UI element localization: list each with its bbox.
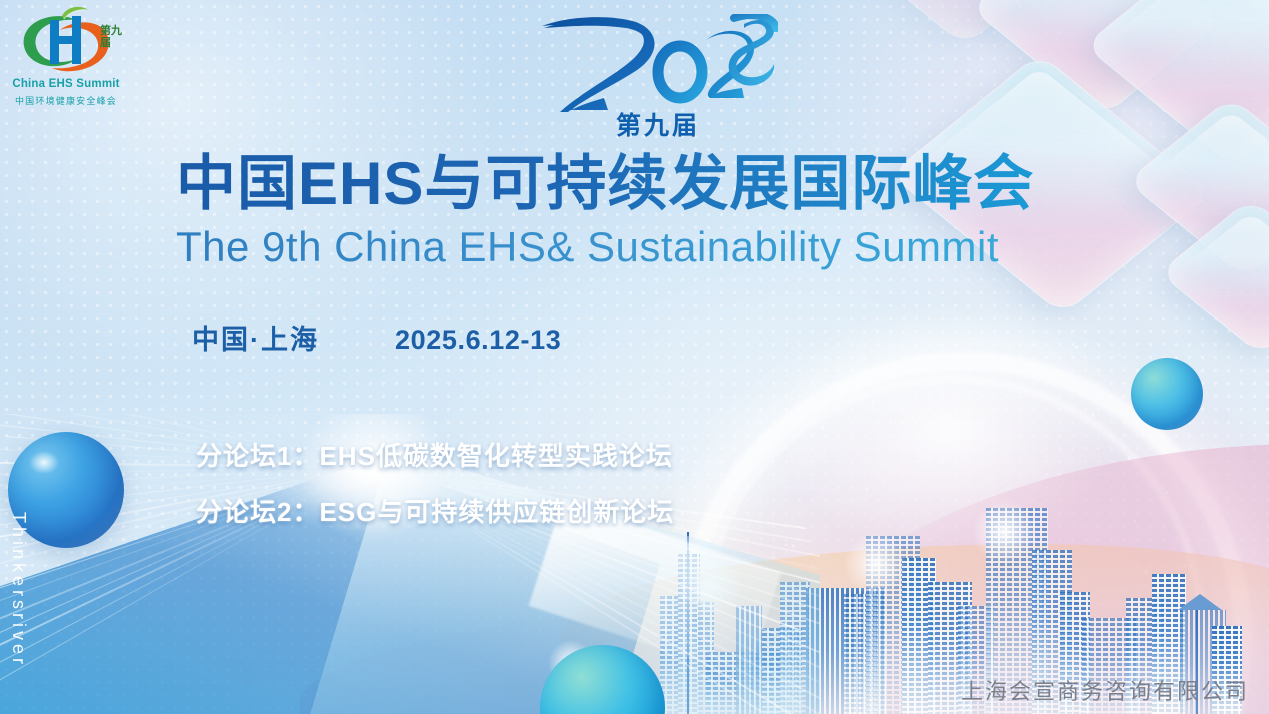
city-dome-roof (1178, 594, 1222, 610)
sparkle (1203, 388, 1204, 389)
china-ehs-summit-logo[interactable]: 第九届 China EHS Summit 中国环境健康安全峰会 (10, 6, 128, 114)
event-date: 2025.6.12-13 (395, 325, 561, 356)
logo-name-en: China EHS Summit (10, 78, 122, 90)
forum-item-1: 分论坛1：EHS低碳数智化转型实践论坛 (196, 443, 674, 469)
city-light-glow (844, 532, 908, 596)
event-location: 中国·上海 (192, 318, 319, 357)
logo-name-cn: 中国环境健康安全峰会 (10, 94, 122, 107)
page-title-en: The 9th China EHS& Sustainability Summit (176, 224, 1126, 270)
sparkle (1221, 351, 1223, 353)
page-title-block: 中国EHS与可持续发展国际峰会 The 9th China EHS& Susta… (176, 152, 1126, 270)
cyan-sphere-icon (1131, 358, 1203, 430)
forum-item-2: 分论坛2：ESG与可持续供应链创新论坛 (196, 499, 674, 525)
city-light-glow (972, 500, 1036, 564)
side-brand-text: Thinkersriver (8, 512, 29, 668)
logo-edition-badge: 第九届 (100, 10, 126, 64)
footer-company: 上海会宣商务咨询有限公司 (961, 674, 1249, 706)
forum-list: 分论坛1：EHS低碳数智化转型实践论坛 分论坛2：ESG与可持续供应链创新论坛 (196, 443, 674, 555)
emblem-edition-label: 第九届 (538, 106, 778, 142)
calligraphic-2025-icon (538, 14, 778, 118)
event-meta: 中国·上海 2025.6.12-13 (192, 318, 561, 357)
summit-poster: 第九届 China EHS Summit 中国环境健康安全峰会 (0, 0, 1269, 714)
year-emblem: 第九届 (538, 14, 778, 138)
page-title-cn: 中国EHS与可持续发展国际峰会 (176, 152, 1126, 216)
sparkle (1191, 363, 1192, 364)
